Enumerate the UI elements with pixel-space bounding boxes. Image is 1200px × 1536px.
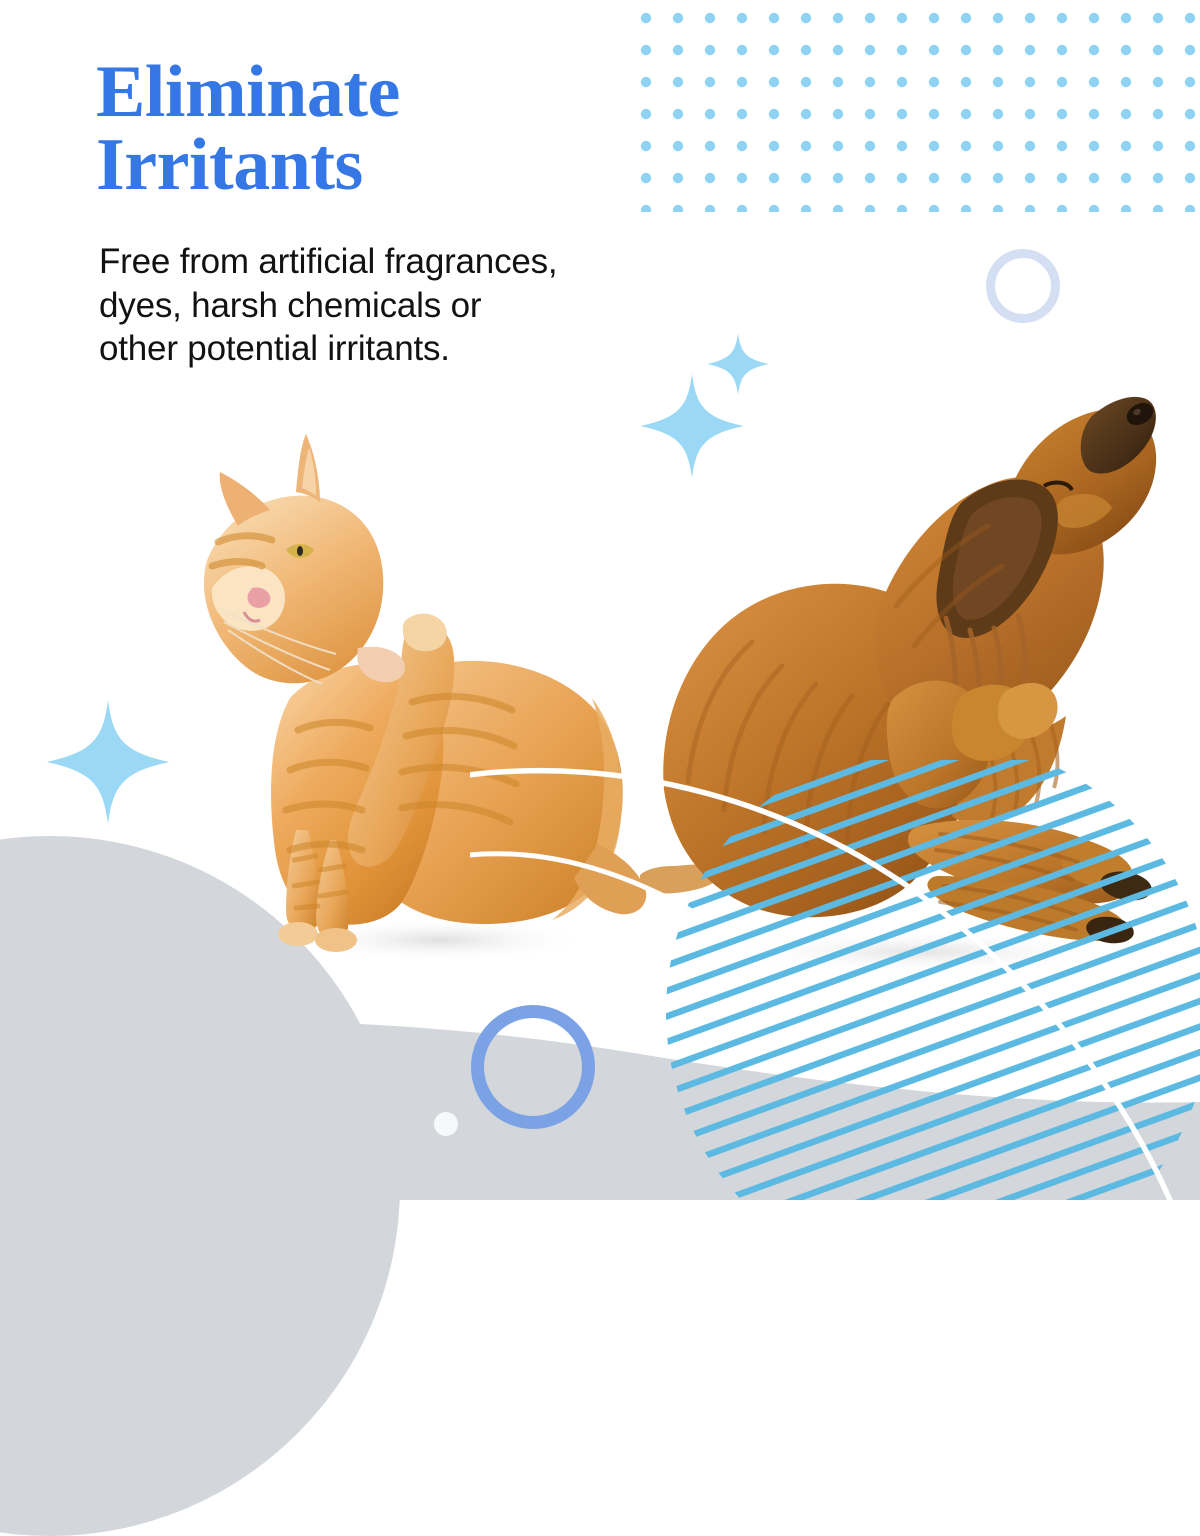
page-title: Eliminate Irritants (96, 56, 656, 203)
white-dot (434, 1112, 458, 1136)
dot-grid-pattern (640, 12, 1200, 217)
sparkle-small-middle-icon (706, 332, 770, 396)
orange-tabby-cat-scratching (190, 430, 650, 970)
grey-wave-blob (0, 1010, 1200, 1200)
ring-small (986, 249, 1060, 323)
poster-canvas: Eliminate Irritants Free from artificial… (0, 0, 1200, 1200)
brown-dog-scratching (640, 390, 1160, 980)
ring-large (471, 1005, 595, 1129)
body-copy: Free from artificial fragrances, dyes, h… (99, 240, 569, 371)
sparkle-large-left-icon (44, 698, 172, 826)
